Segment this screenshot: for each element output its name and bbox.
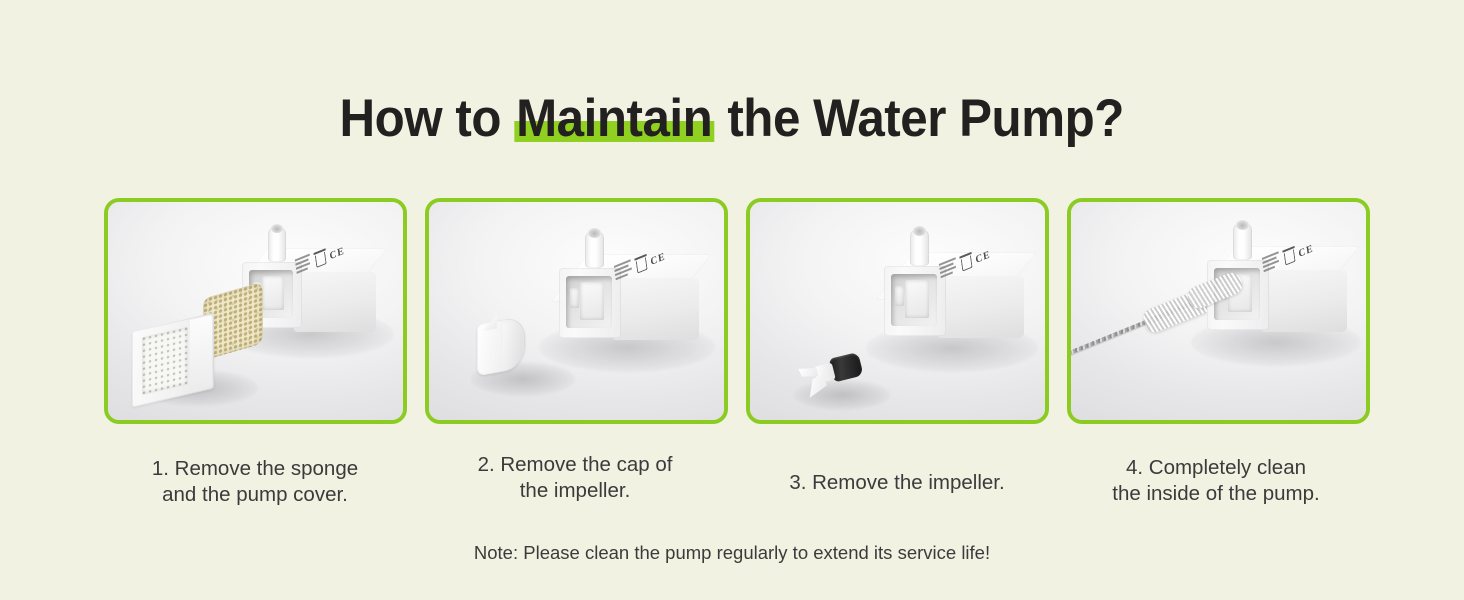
title-text-before: How to <box>340 89 515 148</box>
title-text-after: the Water Pump? <box>714 89 1124 148</box>
step-1-image-panel: CE <box>104 198 407 424</box>
step-2-caption: 2. Remove the cap of the impeller. <box>420 452 730 504</box>
step-3-caption: 3. Remove the impeller. <box>742 470 1052 496</box>
product-photo-step-2: CE <box>429 202 724 420</box>
footer-note: Note: Please clean the pump regularly to… <box>0 542 1464 564</box>
title-highlight-wrap: Maintain <box>515 90 715 148</box>
product-photo-step-4: CE <box>1071 202 1366 420</box>
step-2-image-panel: CE <box>425 198 728 424</box>
product-photo-step-1: CE <box>108 202 403 420</box>
page-title: How to Maintain the Water Pump? <box>0 90 1464 148</box>
step-4-image-panel: CE <box>1067 198 1370 424</box>
step-image-row: CE <box>104 198 1370 424</box>
step-3-image-panel: CE <box>746 198 1049 424</box>
product-photo-step-3: CE <box>750 202 1045 420</box>
title-highlight-word: Maintain <box>516 89 712 148</box>
step-1-caption: 1. Remove the sponge and the pump cover. <box>100 456 410 508</box>
step-4-caption: 4. Completely clean the inside of the pu… <box>1058 455 1374 507</box>
